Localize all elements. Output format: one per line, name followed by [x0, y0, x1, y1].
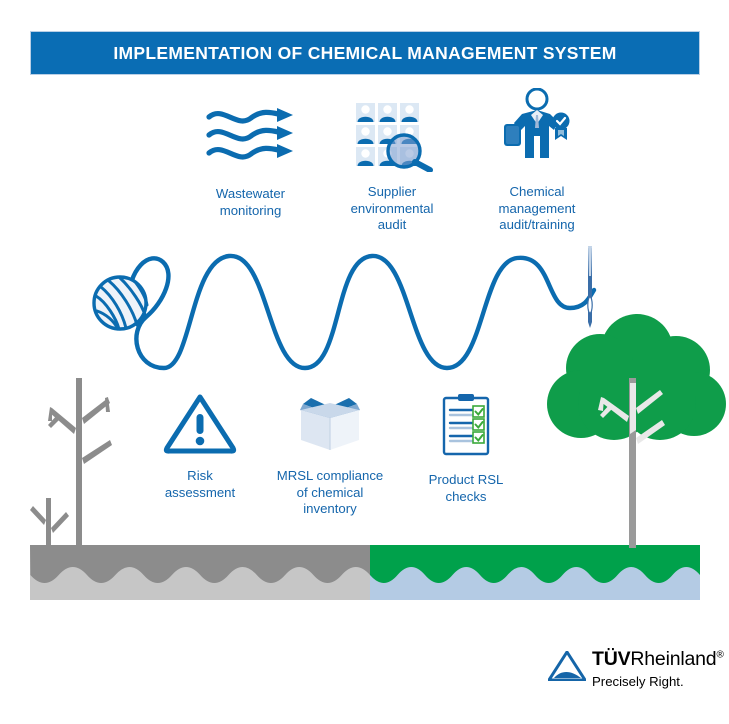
- dead-sapling: [30, 498, 69, 548]
- left-polluted-ground-water: [30, 545, 370, 600]
- icon-block-wastewater-monitoring[interactable]: Wastewater monitoring: [183, 104, 318, 219]
- logo-wordmark: TÜVRheinland®: [592, 648, 724, 671]
- tuv-rheinland-logo: TÜVRheinland® Precisely Right.: [548, 648, 713, 696]
- tuv-rheinland-triangle-icon: [548, 651, 586, 681]
- icon-block-chemical-management-audit[interactable]: Chemical management audit/training: [462, 88, 612, 234]
- auditor-person-badge-icon: [492, 88, 582, 170]
- logo-tagline: Precisely Right.: [592, 674, 684, 689]
- wavy-arrows-icon: [203, 104, 298, 166]
- logo-rheinland: Rheinland: [630, 648, 716, 670]
- warning-triangle-icon: [160, 392, 240, 454]
- icon-label-chemical-management-audit: Chemical management audit/training: [462, 184, 612, 234]
- right-healthy-ground-water: [370, 545, 700, 600]
- open-box-icon: [285, 396, 375, 452]
- icon-label-wastewater-monitoring: Wastewater monitoring: [183, 186, 318, 219]
- healthy-green-tree: [547, 314, 726, 548]
- icon-block-product-rsl-checks[interactable]: Product RSL checks: [400, 392, 532, 505]
- clipboard-checklist-icon: [436, 392, 496, 456]
- sewing-needle-icon: [588, 246, 592, 328]
- logo-tuv: TÜV: [592, 648, 630, 670]
- icon-label-product-rsl-checks: Product RSL checks: [400, 472, 532, 505]
- wavy-thread-path: [128, 256, 594, 368]
- icon-block-mrsl-compliance[interactable]: MRSL compliance of chemical inventory: [250, 396, 410, 518]
- people-grid-magnifier-icon: [342, 100, 442, 172]
- logo-registered-mark: ®: [716, 650, 723, 661]
- icon-label-supplier-environmental-audit: Supplier environmental audit: [322, 184, 462, 234]
- icon-block-supplier-environmental-audit[interactable]: Supplier environmental audit: [322, 100, 462, 234]
- icon-label-mrsl-compliance: MRSL compliance of chemical inventory: [250, 468, 410, 518]
- yarn-ball-icon: [94, 277, 147, 329]
